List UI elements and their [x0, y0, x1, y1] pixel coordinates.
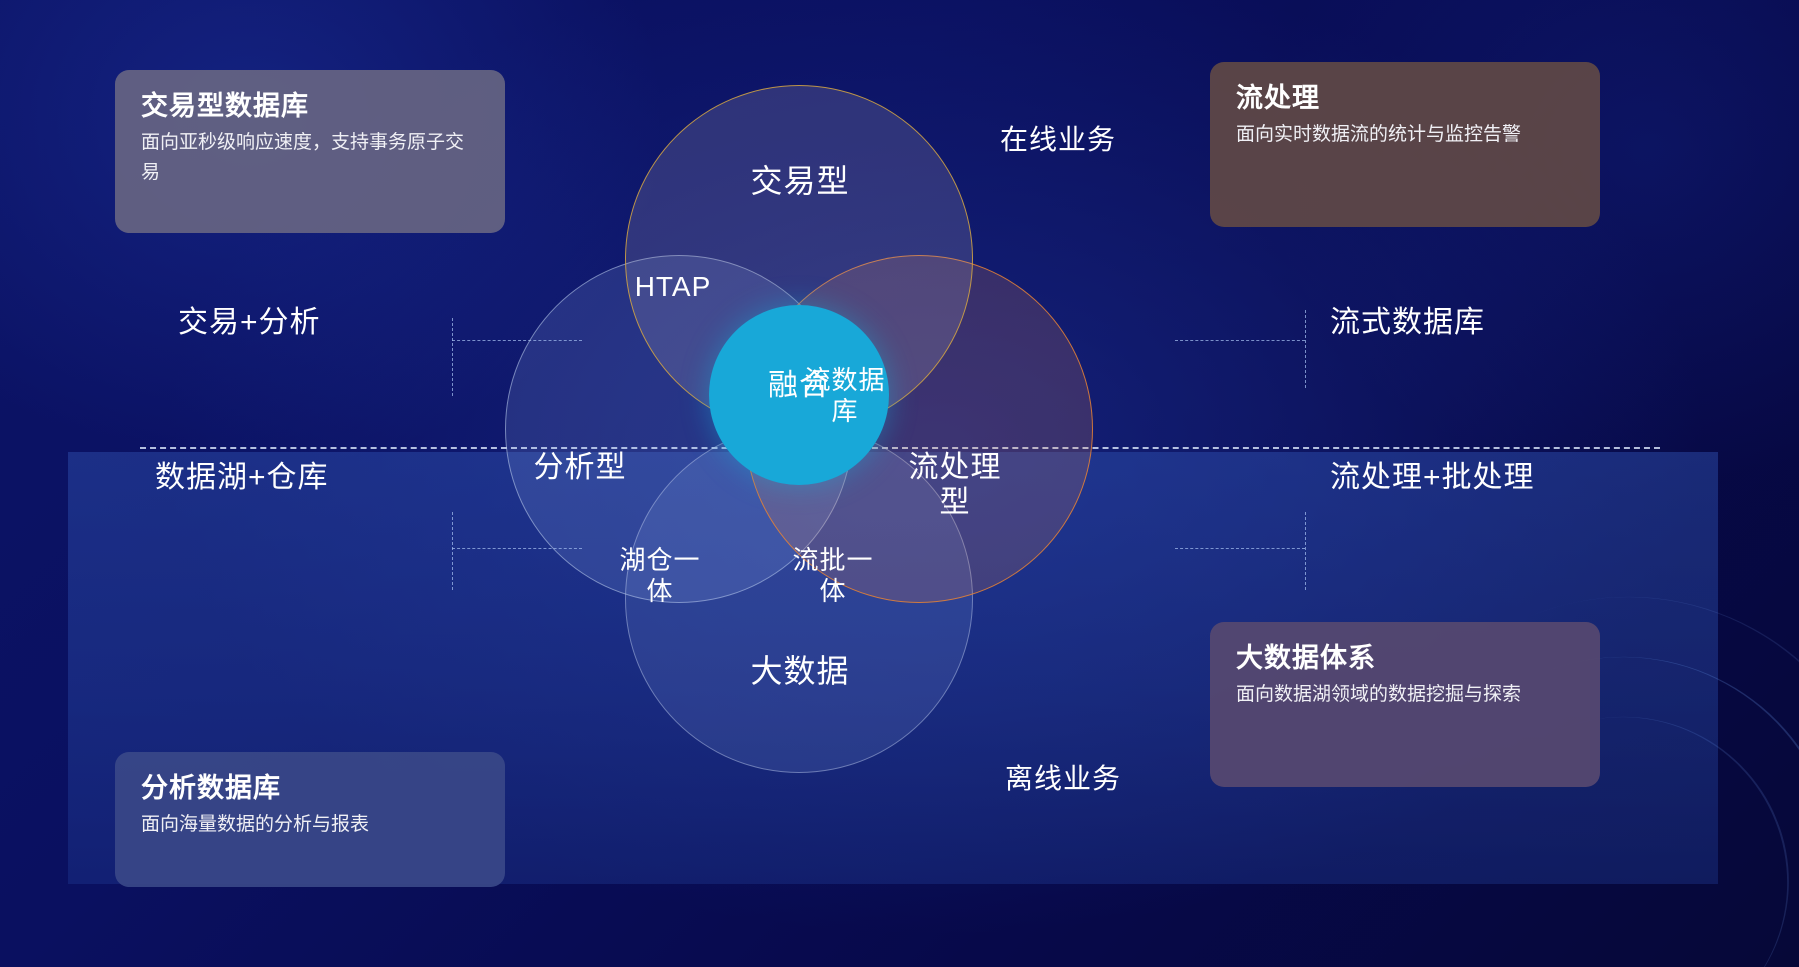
card-title: 流处理: [1236, 82, 1574, 114]
card-description: 面向实时数据流的统计与监控告警: [1236, 120, 1574, 149]
card-description: 面向数据湖领域的数据挖掘与探索: [1236, 680, 1574, 709]
connector-right-top-tick: [1305, 310, 1306, 388]
diagram-canvas: 交易型 分析型 流处理 型 大数据 融合 HTAP 流数据 库 湖仓一 体 流批…: [0, 0, 1799, 967]
label-datalake-plus-warehouse: 数据湖+仓库: [155, 452, 329, 496]
card-transactional-database[interactable]: 交易型数据库 面向亚秒级响应速度，支持事务原子交易: [115, 70, 505, 233]
venn-circle-fusion[interactable]: [709, 305, 889, 485]
connector-right-bottom-tick: [1305, 512, 1306, 590]
connector-left-bottom-tick: [452, 512, 453, 590]
label-offline-business: 离线业务: [1005, 757, 1121, 797]
card-title: 交易型数据库: [141, 90, 479, 122]
card-bigdata-system[interactable]: 大数据体系 面向数据湖领域的数据挖掘与探索: [1210, 622, 1600, 787]
label-online-business: 在线业务: [1000, 118, 1116, 158]
connector-right-top: [1175, 340, 1305, 341]
connector-left-top-tick: [452, 318, 453, 396]
label-stream-plus-batch: 流处理+批处理: [1330, 452, 1535, 496]
card-stream-processing[interactable]: 流处理 面向实时数据流的统计与监控告警: [1210, 62, 1600, 227]
venn-diagram: 交易型 分析型 流处理 型 大数据 融合 HTAP 流数据 库 湖仓一 体 流批…: [505, 85, 1095, 705]
connector-right-bottom: [1175, 548, 1305, 549]
label-transaction-plus-analysis: 交易+分析: [178, 297, 321, 341]
label-streaming-database: 流式数据库: [1330, 297, 1485, 341]
card-title: 大数据体系: [1236, 642, 1574, 674]
card-description: 面向亚秒级响应速度，支持事务原子交易: [141, 128, 479, 187]
card-analytical-database[interactable]: 分析数据库 面向海量数据的分析与报表: [115, 752, 505, 887]
card-title: 分析数据库: [141, 772, 479, 804]
card-description: 面向海量数据的分析与报表: [141, 810, 479, 839]
